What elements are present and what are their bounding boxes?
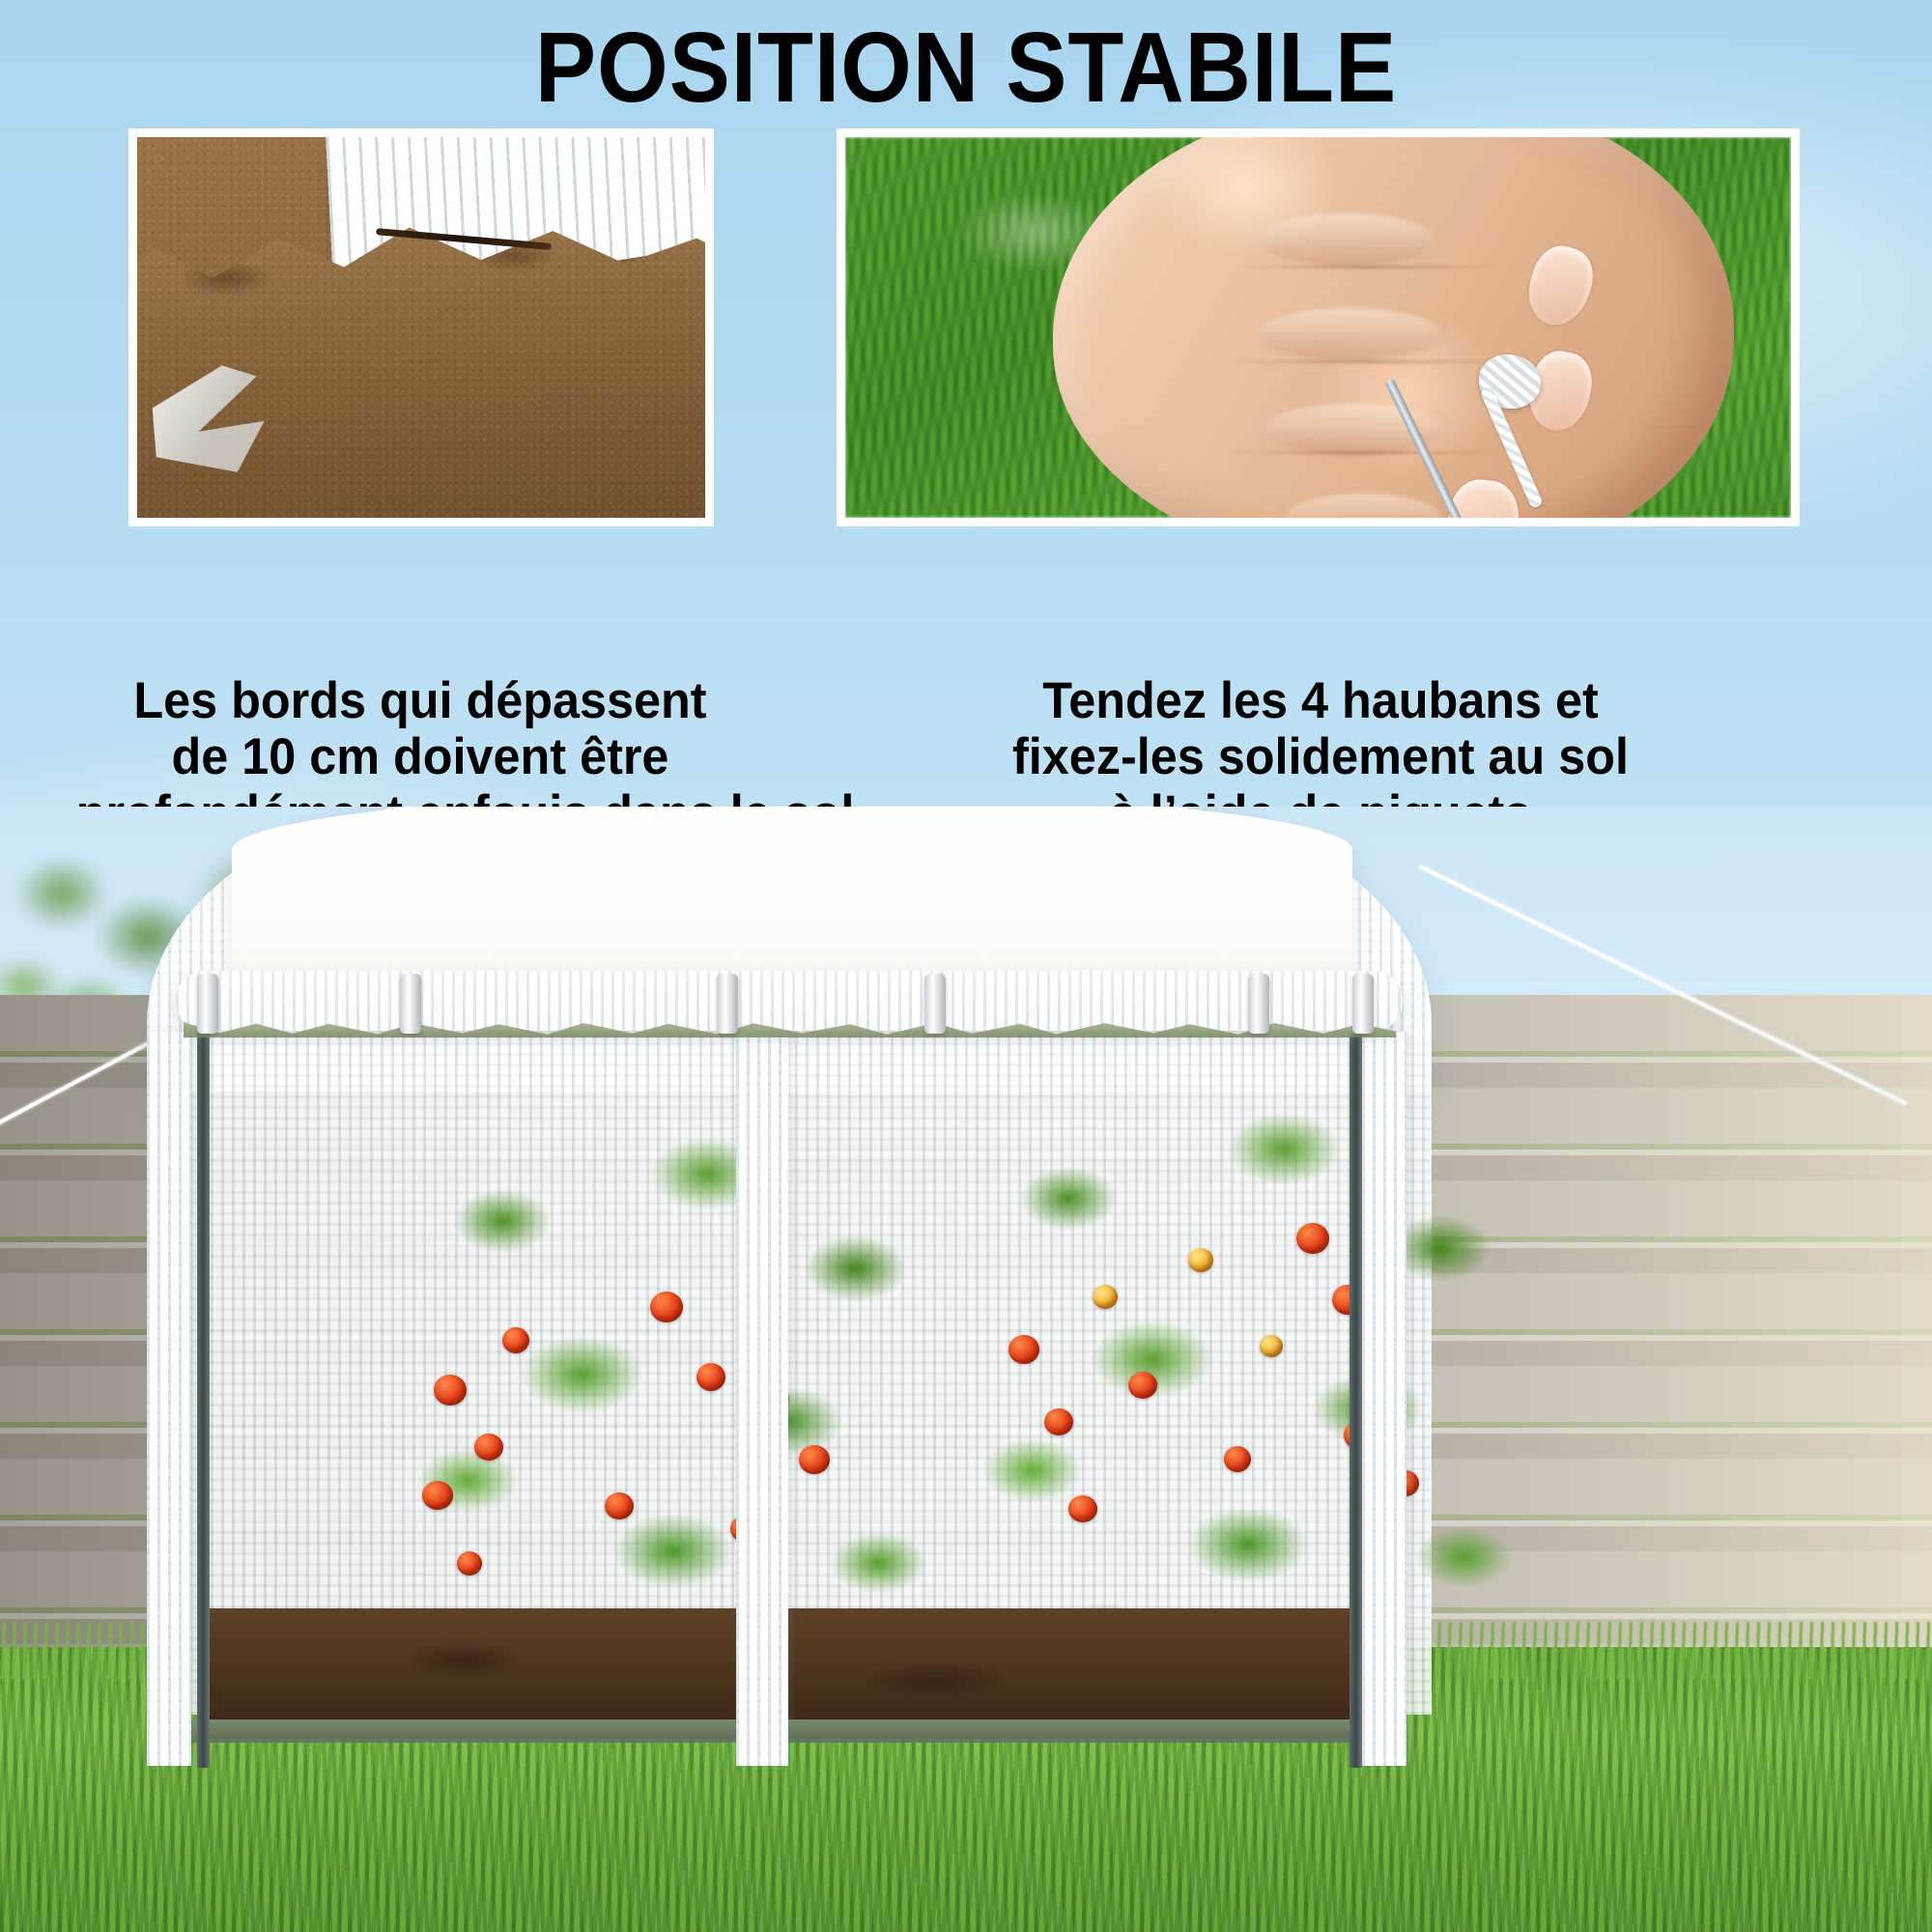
hand-graphic (1053, 137, 1734, 518)
tomato-fruit (1296, 1223, 1329, 1254)
hero-product-photo (0, 807, 1932, 1932)
roll-clip-2 (400, 974, 421, 1034)
tomato-fruit (605, 1492, 634, 1520)
roll-clip-1 (197, 974, 218, 1034)
knuckle-1 (1258, 213, 1435, 266)
tomato-fruit (1009, 1335, 1039, 1364)
greenhouse-post-left (147, 1032, 191, 1766)
tomato-fruit (434, 1375, 467, 1406)
hand-crease-3 (1231, 451, 1503, 454)
roll-clip-5 (1248, 974, 1269, 1034)
tomato-fruit (799, 1445, 830, 1474)
fingernail-1 (1520, 240, 1601, 333)
tomato-fruit (1128, 1372, 1157, 1399)
greenhouse (147, 807, 1432, 1826)
photo-soil-burying (128, 128, 714, 526)
greenhouse-post-right (1362, 1032, 1406, 1766)
tomato-fruit (474, 1434, 503, 1461)
greenhouse-roll-band (176, 971, 1403, 1031)
tomato-fruit (502, 1327, 529, 1353)
tomato-fruit (696, 1363, 725, 1391)
roll-clip-4 (924, 974, 946, 1034)
photo-rope-staking (837, 128, 1800, 526)
tomato-fruit (422, 1481, 453, 1510)
tomato-fruit (1044, 1408, 1073, 1435)
poster-root: POSITION STABILE (0, 0, 1932, 1932)
caption-right-line-2: fixez-les solidement au sol (857, 729, 1784, 785)
caption-right-line-1: Tendez les 4 haubans et (857, 673, 1784, 729)
photo-soil-content (137, 137, 705, 518)
tomato-fruit-yellow (1260, 1335, 1283, 1357)
caption-left-line-2: de 10 cm doivent être (76, 729, 765, 785)
roll-clip-3 (717, 974, 738, 1034)
roll-clip-6 (1352, 974, 1374, 1034)
tomato-plant-left (388, 1092, 958, 1681)
tomato-fruit (650, 1292, 683, 1322)
tomato-fruit (1068, 1495, 1097, 1522)
greenhouse-right-edge-seam (1350, 1034, 1362, 1768)
tomato-fruit (457, 1551, 482, 1576)
hand-crease-2 (1231, 360, 1503, 363)
hand-crease-1 (1231, 266, 1503, 269)
greenhouse-base-rail (185, 1719, 1393, 1743)
knuckle-2 (1258, 308, 1441, 360)
tomato-fruit-yellow (1093, 1285, 1118, 1309)
caption-left-line-1: Les bords qui dépassent (76, 673, 765, 729)
tomato-fruit-yellow (1188, 1248, 1213, 1272)
greenhouse-post-center (736, 1032, 788, 1766)
tomato-plant-right (949, 1063, 1548, 1681)
photo-rope-content (845, 137, 1791, 518)
tomato-fruit (1224, 1446, 1251, 1472)
page-title: POSITION STABILE (77, 17, 1855, 117)
greenhouse-left-edge-seam (197, 1034, 210, 1768)
knuckle-4 (1285, 494, 1441, 518)
